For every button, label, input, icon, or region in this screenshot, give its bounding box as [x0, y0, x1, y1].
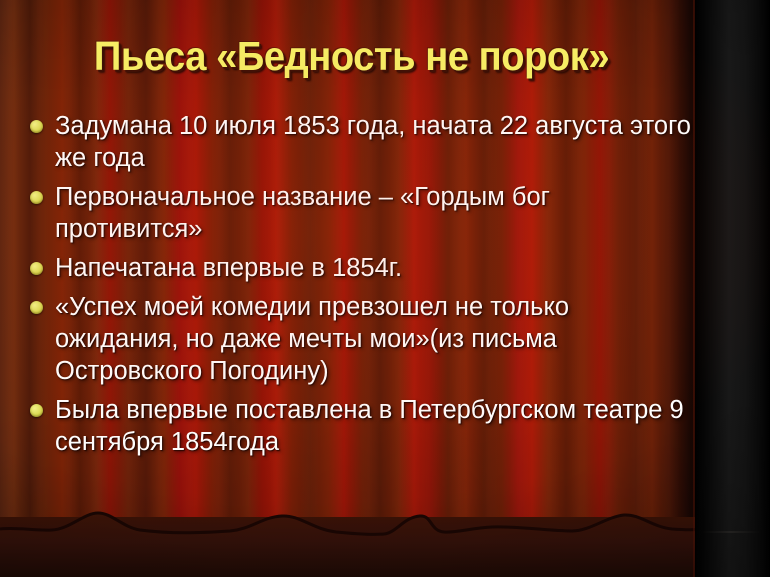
list-item-label: Задумана 10 июля 1853 года, начата 22 ав… [55, 110, 698, 174]
list-item-label: Напечатана впервые в 1854г. [55, 252, 698, 284]
slide-content: Пьеса «Бедность не порок» Задумана 10 ию… [0, 0, 703, 577]
bullet-list: Задумана 10 июля 1853 года, начата 22 ав… [30, 110, 698, 465]
list-item-label: «Успех моей комедии превзошел не только … [55, 291, 698, 387]
list-item-label: Первоначальное название – «Гордым бог пр… [55, 181, 698, 245]
presentation-slide: Пьеса «Бедность не порок» Задумана 10 ию… [0, 0, 770, 577]
bullet-dot-icon [30, 301, 43, 314]
list-item: «Успех моей комедии превзошел не только … [30, 291, 698, 387]
list-item: Задумана 10 июля 1853 года, начата 22 ав… [30, 110, 698, 174]
bullet-dot-icon [30, 191, 43, 204]
bullet-dot-icon [30, 120, 43, 133]
bullet-dot-icon [30, 404, 43, 417]
list-item: Первоначальное название – «Гордым бог пр… [30, 181, 698, 245]
list-item: Напечатана впервые в 1854г. [30, 252, 698, 284]
side-panel-seam [700, 531, 762, 533]
bullet-dot-icon [30, 262, 43, 275]
list-item-label: Была впервые поставлена в Петербургском … [55, 394, 698, 458]
dark-side-panel [695, 0, 770, 577]
list-item: Была впервые поставлена в Петербургском … [30, 394, 698, 458]
page-title: Пьеса «Бедность не порок» [25, 36, 679, 77]
